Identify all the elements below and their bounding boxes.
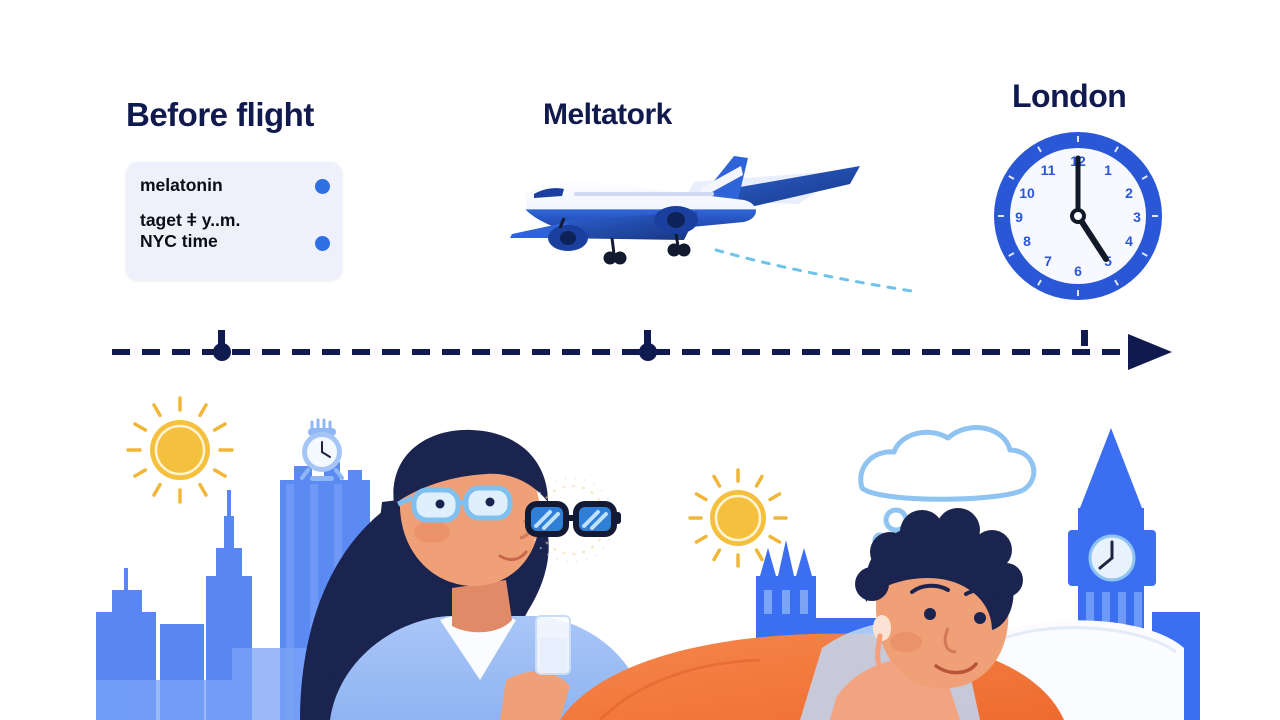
- sunglasses-lens-left: [528, 504, 566, 534]
- woman-neck: [452, 580, 512, 632]
- timeline-marker-midpoint: [639, 330, 657, 361]
- timeline: [0, 318, 1280, 380]
- sun-icon: [690, 470, 786, 566]
- airplane-window-row: [574, 192, 714, 196]
- heading-before-flight: Before flight: [126, 96, 314, 134]
- card-bullet-dot: [315, 236, 330, 251]
- svg-text:6: 6: [1074, 263, 1082, 279]
- heading-destination: London: [1012, 78, 1126, 115]
- svg-text:8: 8: [1023, 233, 1031, 249]
- svg-text:10: 10: [1019, 185, 1035, 201]
- airplane-illustration: [498, 142, 938, 312]
- timeline-marker-london: [1081, 330, 1088, 346]
- engine-intake: [560, 231, 576, 245]
- alarm-base: [310, 476, 334, 481]
- hair-curl: [989, 563, 1023, 597]
- hair-curl: [855, 567, 889, 601]
- woman-eye-left: [436, 500, 445, 509]
- card-row: melatonin: [140, 175, 330, 196]
- card-bullet-dot: [315, 179, 330, 194]
- svg-text:7: 7: [1044, 253, 1052, 269]
- sunglasses-lens-right: [576, 504, 614, 534]
- heading-midpoint: Meltatork: [543, 98, 672, 132]
- marker-dot: [213, 343, 231, 361]
- card-label-target-time: taget ǂ y..m. NYC time: [140, 210, 240, 253]
- woman-cheek: [414, 521, 450, 543]
- card-row: taget ǂ y..m. NYC time: [140, 210, 330, 253]
- cloud-body: [861, 428, 1034, 500]
- sunglasses-bridge: [564, 515, 578, 521]
- bottom-illustration: [0, 380, 1280, 720]
- alarm-clock-icon: [302, 420, 342, 481]
- card-label-line-1: taget ǂ y..m.: [140, 210, 240, 231]
- clock-center-pin: [1072, 210, 1084, 222]
- woman-hand: [500, 671, 570, 720]
- building-top: [112, 590, 142, 616]
- marker-tick: [1081, 330, 1088, 346]
- svg-text:2: 2: [1125, 185, 1133, 201]
- sun-icon: [128, 398, 232, 502]
- sunglasses-temple: [612, 512, 621, 524]
- svg-text:11: 11: [1041, 162, 1056, 178]
- svg-text:9: 9: [1015, 209, 1023, 225]
- svg-text:1: 1: [1104, 162, 1112, 178]
- card-label-melatonin: melatonin: [140, 175, 223, 196]
- contrail-dots: [716, 250, 918, 292]
- glasses-bridge: [458, 502, 466, 503]
- svg-text:4: 4: [1125, 233, 1133, 249]
- man-eye-right: [974, 612, 986, 624]
- man-eye-left: [924, 608, 936, 620]
- man-cheek: [890, 632, 922, 652]
- card-label-line-2: NYC time: [140, 231, 240, 252]
- marker-dot: [639, 343, 657, 361]
- sunglasses-icon: [528, 504, 621, 534]
- sun-disc: [710, 490, 766, 546]
- woman-eye-right: [486, 498, 495, 507]
- before-flight-card: melatonin taget ǂ y..m. NYC time: [126, 162, 342, 280]
- timeline-marker-before-flight: [213, 330, 231, 361]
- infographic-canvas: Before flight Meltatork London melatonin…: [0, 0, 1280, 720]
- london-wall-clock: 12 1 2 3 4 5 6 7 8 9 10 11: [990, 128, 1166, 304]
- antenna: [124, 568, 128, 592]
- engine-intake: [667, 212, 685, 228]
- water-glass: [536, 616, 570, 674]
- sun-disc: [150, 420, 210, 480]
- bigben-belfry: [1090, 490, 1132, 510]
- timeline-arrowhead: [1128, 334, 1172, 370]
- svg-text:3: 3: [1133, 209, 1141, 225]
